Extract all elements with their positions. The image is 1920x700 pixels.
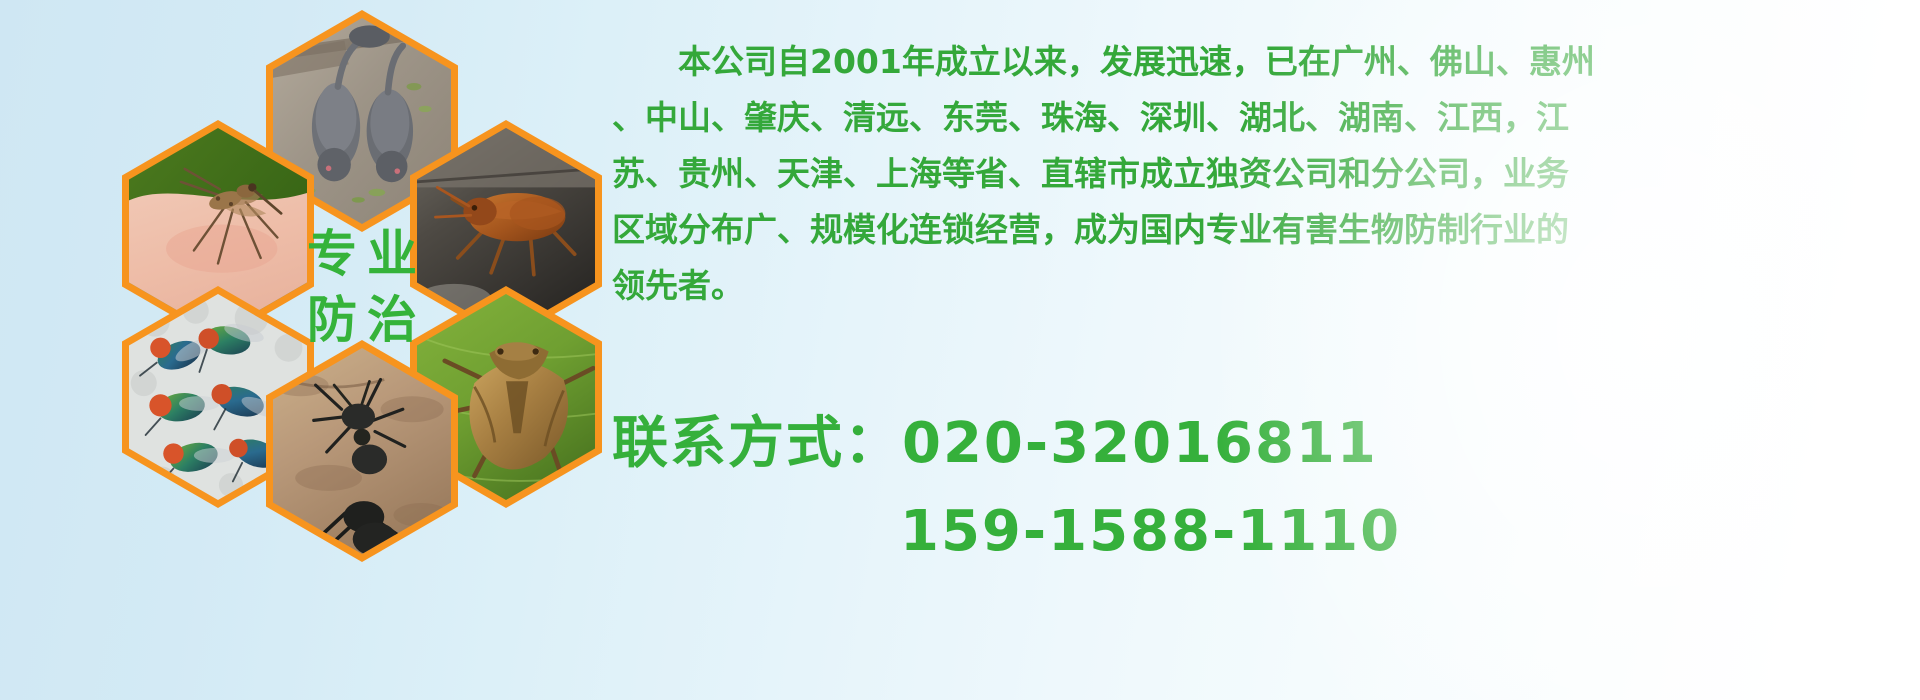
contact-phone-primary[interactable]: 联系方式：020-32016811 xyxy=(612,400,1912,488)
hex-label-line-2: 防治 xyxy=(297,294,427,347)
contact-block: 联系方式：020-32016811 159-1588-1110 xyxy=(612,400,1912,576)
contact-phone-secondary[interactable]: 159-1588-1110 xyxy=(612,488,1912,576)
intro-line-2: 、中山、肇庆、清远、东莞、珠海、深圳、湖北、湖南、江西，江 xyxy=(612,90,1912,146)
honeycomb-photo-cluster: 专业 防治 xyxy=(0,0,600,700)
intro-line-1: 本公司自2001年成立以来，发展迅速，已在广州、佛山、惠州 xyxy=(612,34,1912,90)
company-intro-paragraph: 本公司自2001年成立以来，发展迅速，已在广州、佛山、惠州 、中山、肇庆、清远、… xyxy=(612,34,1912,314)
honeycomb-center-label: 专业 防治 xyxy=(266,176,458,398)
intro-line-5: 领先者。 xyxy=(612,258,1912,314)
hex-label-line-1: 专业 xyxy=(297,228,427,281)
intro-line-4: 区域分布广、规模化连锁经营，成为国内专业有害生物防制行业的 xyxy=(612,202,1912,258)
promo-banner: 专业 防治 本公司自2001年成立以来，发展迅速，已在广州、佛山、惠州 、中山、… xyxy=(0,0,1920,700)
intro-line-3: 苏、贵州、天津、上海等省、直辖市成立独资公司和分公司，业务 xyxy=(612,146,1912,202)
